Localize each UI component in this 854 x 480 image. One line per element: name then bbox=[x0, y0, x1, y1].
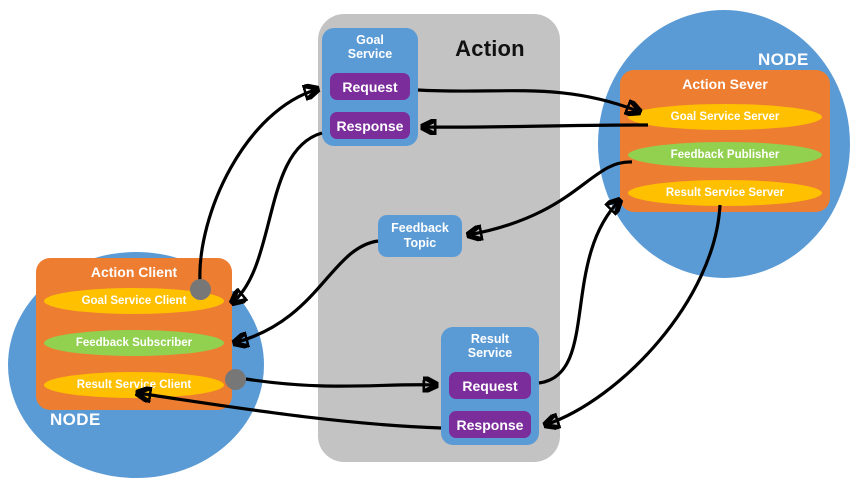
connector-dot-goal-client bbox=[190, 279, 211, 300]
server-node-label: NODE bbox=[758, 50, 809, 70]
action-client-title: Action Client bbox=[36, 264, 232, 280]
goal-service-request[interactable]: Request bbox=[330, 73, 410, 100]
result-service-title: Result Service bbox=[441, 332, 539, 360]
pill-result-service-client[interactable]: Result Service Client bbox=[44, 372, 224, 398]
pill-feedback-subscriber[interactable]: Feedback Subscriber bbox=[44, 330, 224, 356]
goal-service-response[interactable]: Response bbox=[330, 112, 410, 139]
pill-goal-service-server[interactable]: Goal Service Server bbox=[628, 104, 822, 130]
pill-result-service-server[interactable]: Result Service Server bbox=[628, 180, 822, 206]
goal-service-box: Goal Service Request Response bbox=[322, 28, 418, 146]
action-server-box: Action Sever Goal Service Server Feedbac… bbox=[620, 70, 830, 212]
feedback-topic-line2: Topic bbox=[404, 236, 436, 251]
arrow-goal-client-to-request bbox=[200, 89, 318, 282]
feedback-topic-line1: Feedback bbox=[391, 221, 449, 236]
result-service-title-line1: Result bbox=[441, 332, 539, 346]
result-service-response[interactable]: Response bbox=[449, 411, 531, 438]
connector-dot-result-client bbox=[225, 369, 246, 390]
action-server-title: Action Sever bbox=[620, 76, 830, 92]
result-service-request[interactable]: Request bbox=[449, 372, 531, 399]
result-service-box: Result Service Request Response bbox=[441, 327, 539, 445]
diagram-canvas: Action NODE Action Client Goal Service C… bbox=[0, 0, 854, 480]
goal-service-title-line2: Service bbox=[322, 47, 418, 61]
result-service-title-line2: Service bbox=[441, 346, 539, 360]
arrow-goal-response-to-client bbox=[232, 133, 322, 303]
goal-service-title-line1: Goal bbox=[322, 33, 418, 47]
action-container-title: Action bbox=[420, 36, 560, 62]
pill-feedback-publisher[interactable]: Feedback Publisher bbox=[628, 142, 822, 168]
client-node-label: NODE bbox=[50, 410, 101, 430]
feedback-topic-box[interactable]: Feedback Topic bbox=[378, 215, 462, 257]
goal-service-title: Goal Service bbox=[322, 33, 418, 61]
